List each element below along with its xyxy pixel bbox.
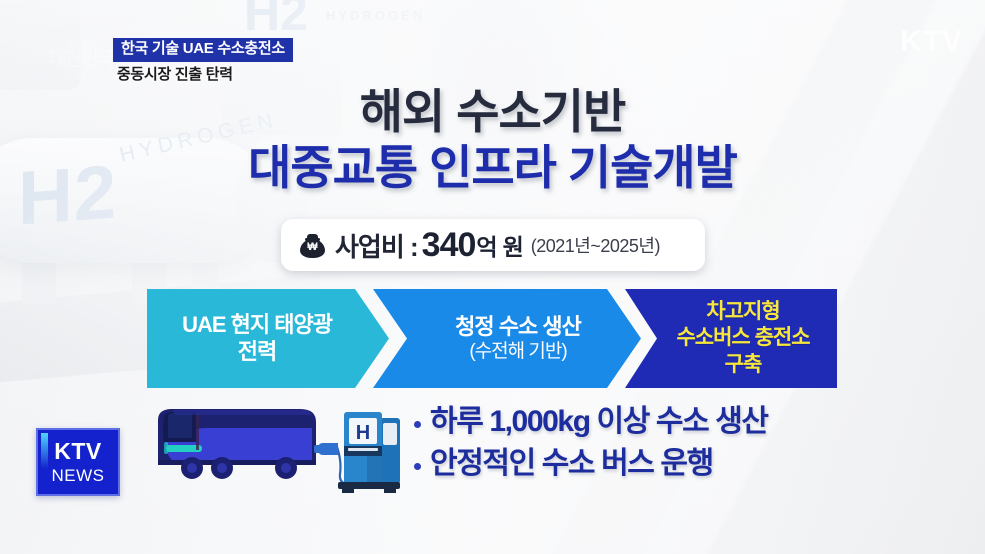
news-ticker: 한국 기술 UAE 수소충전소 중동시장 진출 탄력 <box>113 38 293 86</box>
list-item: 하루 1,000kg 이상 수소 생산 <box>414 404 768 440</box>
station-logo: KTV NEWS <box>36 428 120 496</box>
bullet-text-1: 하루 1,000kg 이상 수소 생산 <box>430 404 768 440</box>
money-bag-icon: ₩ <box>299 232 326 258</box>
station-logo-main: KTV <box>54 440 102 463</box>
hydrogen-bus-illustration: H <box>152 398 402 494</box>
bullet-text-2: 안정적인 수소 버스 운행 <box>430 446 713 482</box>
feature-bullet-list: 하루 1,000kg 이상 수소 생산 안정적인 수소 버스 운행 <box>414 404 768 488</box>
budget-currency: 원 <box>503 228 523 262</box>
flow-step-solar-power: UAE 현지 태양광 전력 <box>147 289 389 388</box>
broadcast-graphic-stage: H2 HYDROGEN H2 HYDROGEN 정부혁신 대한민국 1부 KTV… <box>0 0 985 554</box>
flow-step-bus-charging-station: 차고지형 수소버스 충전소 구축 <box>625 289 837 388</box>
budget-unit: 억 <box>476 228 496 262</box>
station-logo-sub: NEWS <box>52 467 105 484</box>
list-item: 안정적인 수소 버스 운행 <box>414 446 768 482</box>
budget-amount: 340 <box>422 226 476 265</box>
budget-label: 사업비 : <box>335 227 418 264</box>
flow-step-3-line-1: 차고지형 <box>682 299 779 325</box>
svg-text:H: H <box>356 422 370 444</box>
flow-step-hydrogen-production: 청정 수소 생산 (수전해 기반) <box>373 289 641 388</box>
flow-step-2-line-1: 청정 수소 생산 <box>433 314 581 341</box>
ticker-subheadline: 중동시장 진출 탄력 <box>113 65 237 86</box>
title-line-2: 대중교통 인프라 기술개발 <box>0 141 985 195</box>
bullet-dot-icon <box>414 421 421 428</box>
flow-step-1-line-2: 전력 <box>238 339 298 366</box>
page-title: 해외 수소기반 대중교통 인프라 기술개발 <box>0 86 985 195</box>
charging-nozzle-icon <box>314 443 346 484</box>
budget-callout: ₩ 사업비 : 340 억 원 (2021년~2025년) <box>281 219 705 271</box>
bullet-dot-icon <box>414 463 421 470</box>
hydrogen-pump-icon: H <box>338 412 400 493</box>
flow-step-3-line-2: 수소버스 충전소 <box>652 325 809 351</box>
process-flow-diagram: UAE 현지 태양광 전력 청정 수소 생산 (수전해 기반) 차고지형 수소버… <box>147 289 837 388</box>
flow-step-1-line-1: UAE 현지 태양광 <box>182 312 354 339</box>
flow-step-3-line-3: 구축 <box>701 352 762 378</box>
flow-step-2-sub: (수전해 기반) <box>447 341 566 364</box>
title-line-1: 해외 수소기반 <box>0 86 985 139</box>
budget-period: (2021년~2025년) <box>531 232 660 258</box>
bus-icon <box>158 409 316 479</box>
ticker-headline: 한국 기술 UAE 수소충전소 <box>113 38 293 62</box>
